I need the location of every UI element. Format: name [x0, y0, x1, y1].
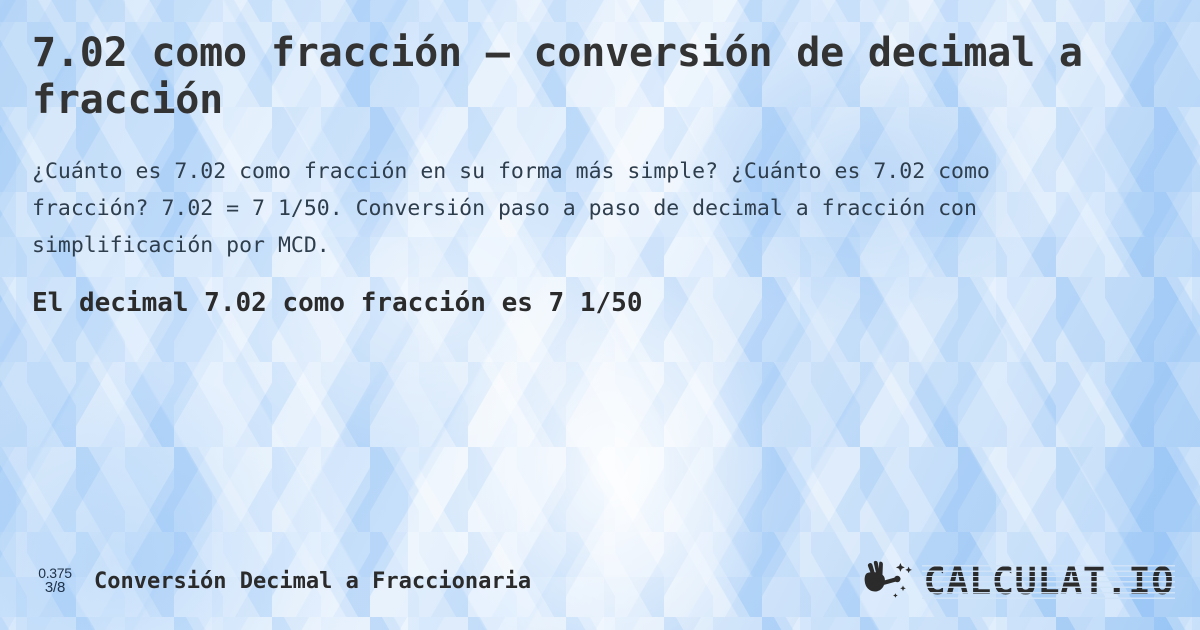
- brand-logo-text: CALCULAT.IO: [923, 563, 1174, 600]
- answer-statement: El decimal 7.02 como fracción es 7 1/50: [32, 287, 1168, 321]
- decimal-fraction-icon-decimal: 0.375: [38, 566, 72, 581]
- decimal-fraction-icon-fraction: 3/8: [45, 580, 65, 596]
- brand-logo[interactable]: CALCULAT.IO: [863, 560, 1174, 602]
- hand-magic-wand-icon: [863, 560, 917, 602]
- page-summary: ¿Cuánto es 7.02 como fracción en su form…: [32, 154, 1102, 265]
- card-footer: 0.375 3/8 Conversión Decimal a Fracciona…: [0, 552, 1200, 610]
- card-content: 7.02 como fracción – conversión de decim…: [0, 0, 1200, 630]
- page-title: 7.02 como fracción – conversión de decim…: [32, 30, 1092, 124]
- decimal-fraction-icon: 0.375 3/8: [26, 566, 84, 596]
- og-preview-card: 7.02 como fracción – conversión de decim…: [0, 0, 1200, 630]
- footer-label: Conversión Decimal a Fraccionaria: [94, 569, 531, 594]
